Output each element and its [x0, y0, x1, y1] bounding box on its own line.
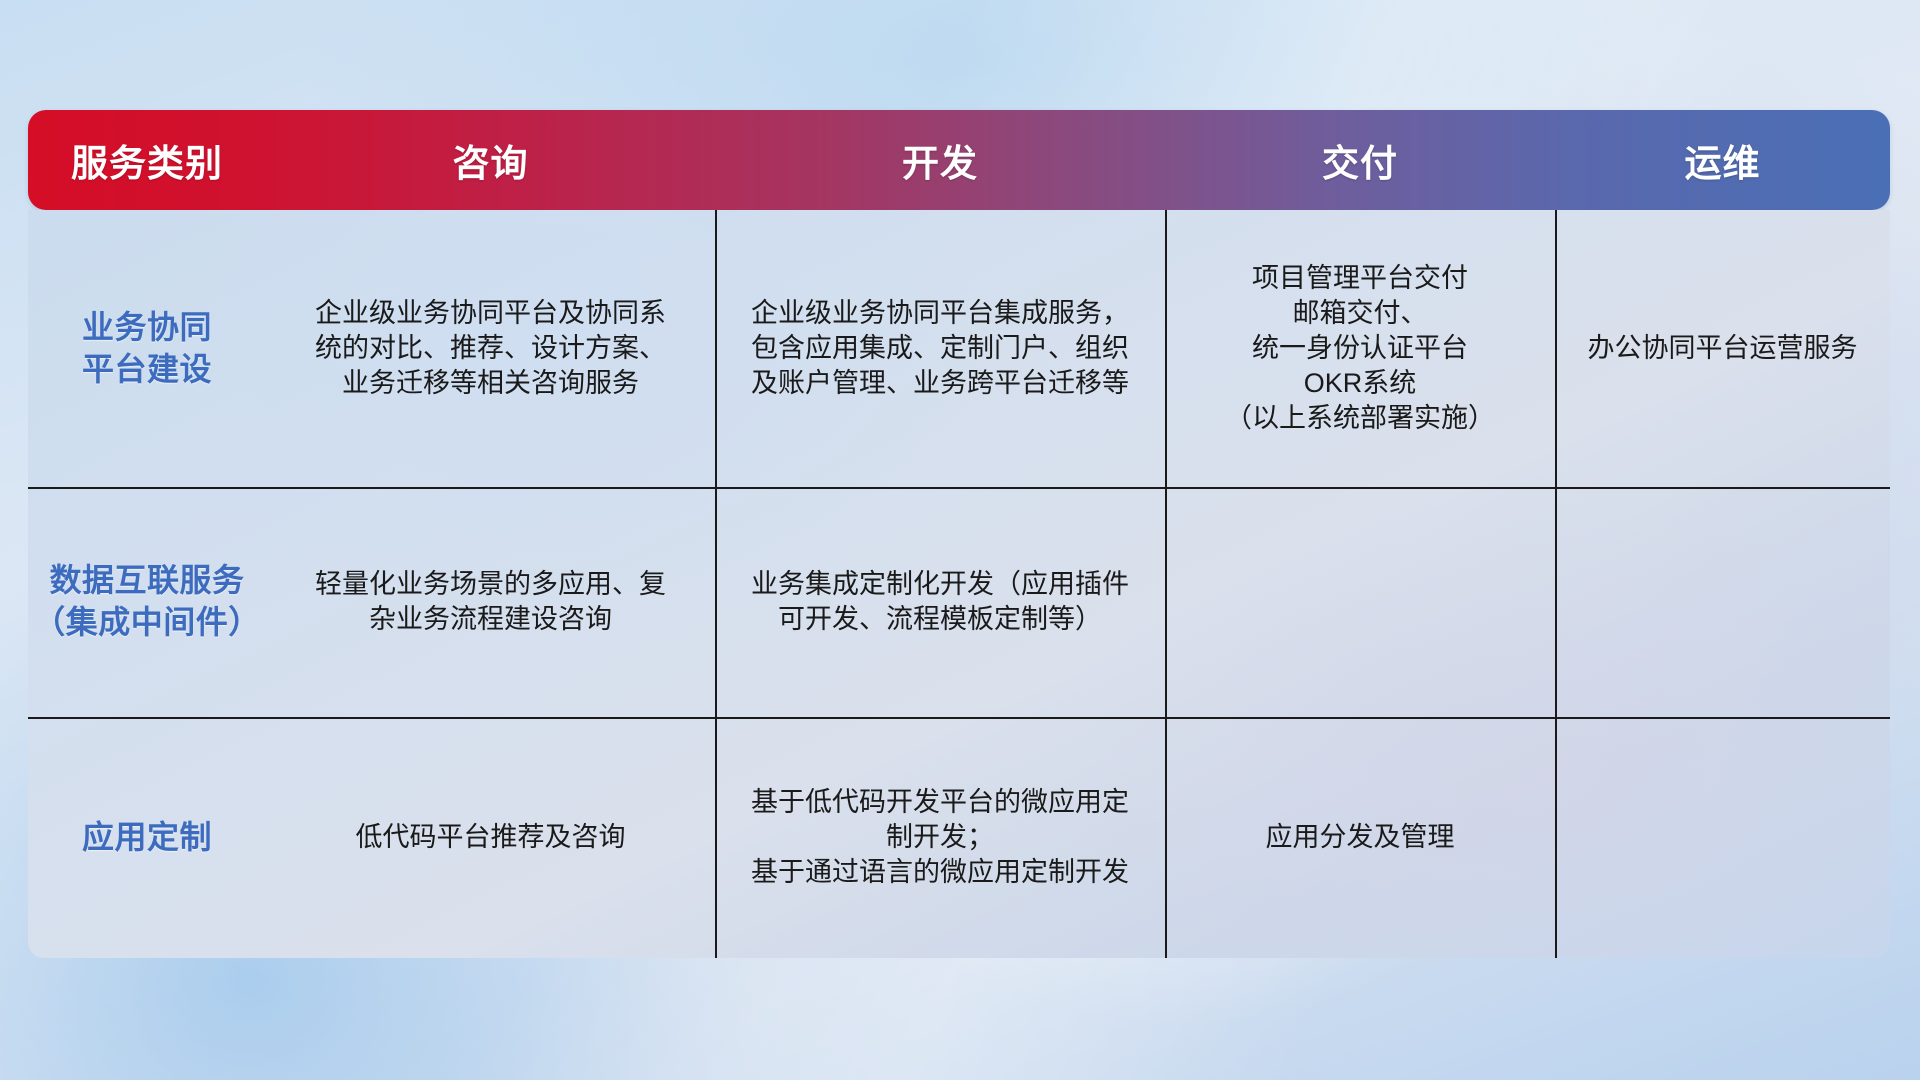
column-divider-delivery-operations [1555, 210, 1557, 958]
column-header-operations: 运维 [1555, 133, 1890, 187]
service-matrix-table: 服务类别 咨询 开发 交付 运维 业务协同 平台建设 企业级业务协同平台及协同系… [28, 110, 1890, 958]
column-divider-development-delivery [1165, 210, 1167, 958]
row-divider [28, 487, 1890, 489]
cell-consulting-r1: 企业级业务协同平台及协同系 统的对比、推荐、设计方案、 业务迁移等相关咨询服务 [266, 210, 715, 487]
table-row: 数据互联服务 （集成中间件） 轻量化业务场景的多应用、复 杂业务流程建设咨询 业… [28, 487, 1890, 717]
cell-category-r3: 应用定制 [28, 717, 266, 958]
column-header-consulting: 咨询 [266, 133, 715, 187]
cell-delivery-r3: 应用分发及管理 [1165, 717, 1555, 958]
cell-consulting-r2: 轻量化业务场景的多应用、复 杂业务流程建设咨询 [266, 487, 715, 717]
table-row: 应用定制 低代码平台推荐及咨询 基于低代码开发平台的微应用定 制开发； 基于通过… [28, 717, 1890, 958]
cell-development-r2: 业务集成定制化开发（应用插件 可开发、流程模板定制等） [715, 487, 1165, 717]
column-divider-consulting-development [715, 210, 717, 958]
cell-operations-r1: 办公协同平台运营服务 [1555, 210, 1890, 487]
cell-category-r2: 数据互联服务 （集成中间件） [28, 487, 266, 717]
row-divider [28, 717, 1890, 719]
column-header-category: 服务类别 [28, 133, 266, 187]
cell-delivery-r1: 项目管理平台交付 邮箱交付、 统一身份认证平台 OKR系统 （以上系统部署实施） [1165, 210, 1555, 487]
column-header-delivery: 交付 [1165, 133, 1555, 187]
column-header-development: 开发 [715, 133, 1165, 187]
cell-development-r1: 企业级业务协同平台集成服务， 包含应用集成、定制门户、组织 及账户管理、业务跨平… [715, 210, 1165, 487]
cell-category-r1: 业务协同 平台建设 [28, 210, 266, 487]
cell-operations-r3 [1555, 717, 1890, 958]
cell-development-r3: 基于低代码开发平台的微应用定 制开发； 基于通过语言的微应用定制开发 [715, 717, 1165, 958]
cell-operations-r2 [1555, 487, 1890, 717]
table-header-row: 服务类别 咨询 开发 交付 运维 [28, 110, 1890, 210]
cell-consulting-r3: 低代码平台推荐及咨询 [266, 717, 715, 958]
cell-delivery-r2 [1165, 487, 1555, 717]
table-body: 业务协同 平台建设 企业级业务协同平台及协同系 统的对比、推荐、设计方案、 业务… [28, 210, 1890, 958]
table-row: 业务协同 平台建设 企业级业务协同平台及协同系 统的对比、推荐、设计方案、 业务… [28, 210, 1890, 487]
